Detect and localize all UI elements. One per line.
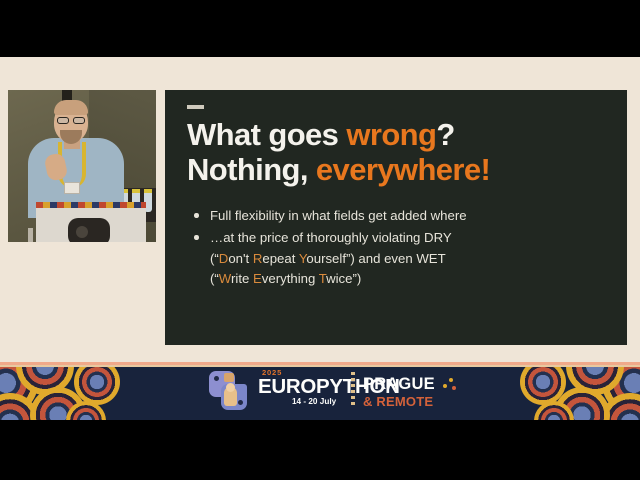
bullet-text-line-2-pre: (“ bbox=[210, 251, 219, 266]
title-text-accent: everywhere! bbox=[316, 152, 490, 187]
mascot-head bbox=[226, 383, 235, 392]
title-text-plain: Nothing, bbox=[187, 152, 316, 187]
banner-mode: & REMOTE bbox=[363, 394, 433, 409]
python-logo-icon bbox=[206, 369, 252, 413]
mascot-block bbox=[224, 373, 234, 382]
banner-ornament-right bbox=[480, 367, 640, 420]
python-logo-eye-dot bbox=[238, 400, 243, 405]
title-text-tail: ? bbox=[436, 117, 454, 152]
bullet-text-seg: rite bbox=[231, 271, 253, 286]
bullet-text-line-1: …at the price of thoroughly violating DR… bbox=[210, 230, 452, 245]
accent-letter-t: T bbox=[319, 271, 326, 286]
banner-dot-ornament bbox=[443, 378, 457, 392]
bottle-cap bbox=[144, 189, 152, 193]
slide-bullet-list: Full flexibility in what fields get adde… bbox=[189, 206, 519, 292]
presentation-slide: What goes wrong? Nothing, everywhere! Fu… bbox=[165, 90, 627, 345]
title-text-plain: What goes bbox=[187, 117, 346, 152]
accent-letter-d: D bbox=[219, 251, 229, 266]
bullet-text: Full flexibility in what fields get adde… bbox=[210, 208, 467, 223]
python-logo-eye-dot bbox=[214, 376, 219, 381]
bottle-cap bbox=[132, 189, 140, 193]
accent-letter-e: E bbox=[253, 271, 262, 286]
glasses-icon bbox=[57, 117, 69, 124]
letterbox-bar-top bbox=[0, 0, 640, 57]
title-text-accent: wrong bbox=[346, 117, 436, 152]
glasses-icon bbox=[73, 117, 85, 124]
list-item: …at the price of thoroughly violating DR… bbox=[189, 228, 519, 289]
list-item: Full flexibility in what fields get adde… bbox=[189, 206, 519, 226]
speaker-video-thumbnail bbox=[8, 90, 156, 242]
bullet-text-line-3-pre: (“ bbox=[210, 271, 219, 286]
slide-title-line-1: What goes wrong? bbox=[187, 118, 607, 153]
microphone-head bbox=[76, 226, 88, 238]
bullet-text-seg: epeat bbox=[262, 251, 298, 266]
bullet-text-seg: on't bbox=[228, 251, 253, 266]
bullet-text-seg: ourself”) and even WET bbox=[306, 251, 445, 266]
banner-dates: 14 - 20 July bbox=[292, 397, 336, 406]
letterbox-bar-bottom bbox=[0, 420, 640, 480]
slide-title: What goes wrong? Nothing, everywhere! bbox=[187, 118, 607, 187]
bullet-text-seg: wice”) bbox=[326, 271, 361, 286]
conference-badge bbox=[64, 182, 80, 194]
microphone-unit bbox=[68, 218, 110, 242]
accent-letter-r: R bbox=[253, 251, 263, 266]
banner-ornament-left bbox=[0, 367, 160, 420]
mic-stand bbox=[28, 228, 33, 242]
speaker-hair bbox=[54, 100, 88, 115]
banner-divider bbox=[351, 372, 355, 408]
bullet-text-seg: verything bbox=[262, 271, 319, 286]
accent-letter-w: W bbox=[219, 271, 231, 286]
video-player-frame: What goes wrong? Nothing, everywhere! Fu… bbox=[0, 0, 640, 480]
banner-city: PRAGUE bbox=[363, 375, 435, 394]
slide-eyebrow-dash bbox=[187, 105, 204, 109]
slide-title-line-2: Nothing, everywhere! bbox=[187, 153, 607, 188]
